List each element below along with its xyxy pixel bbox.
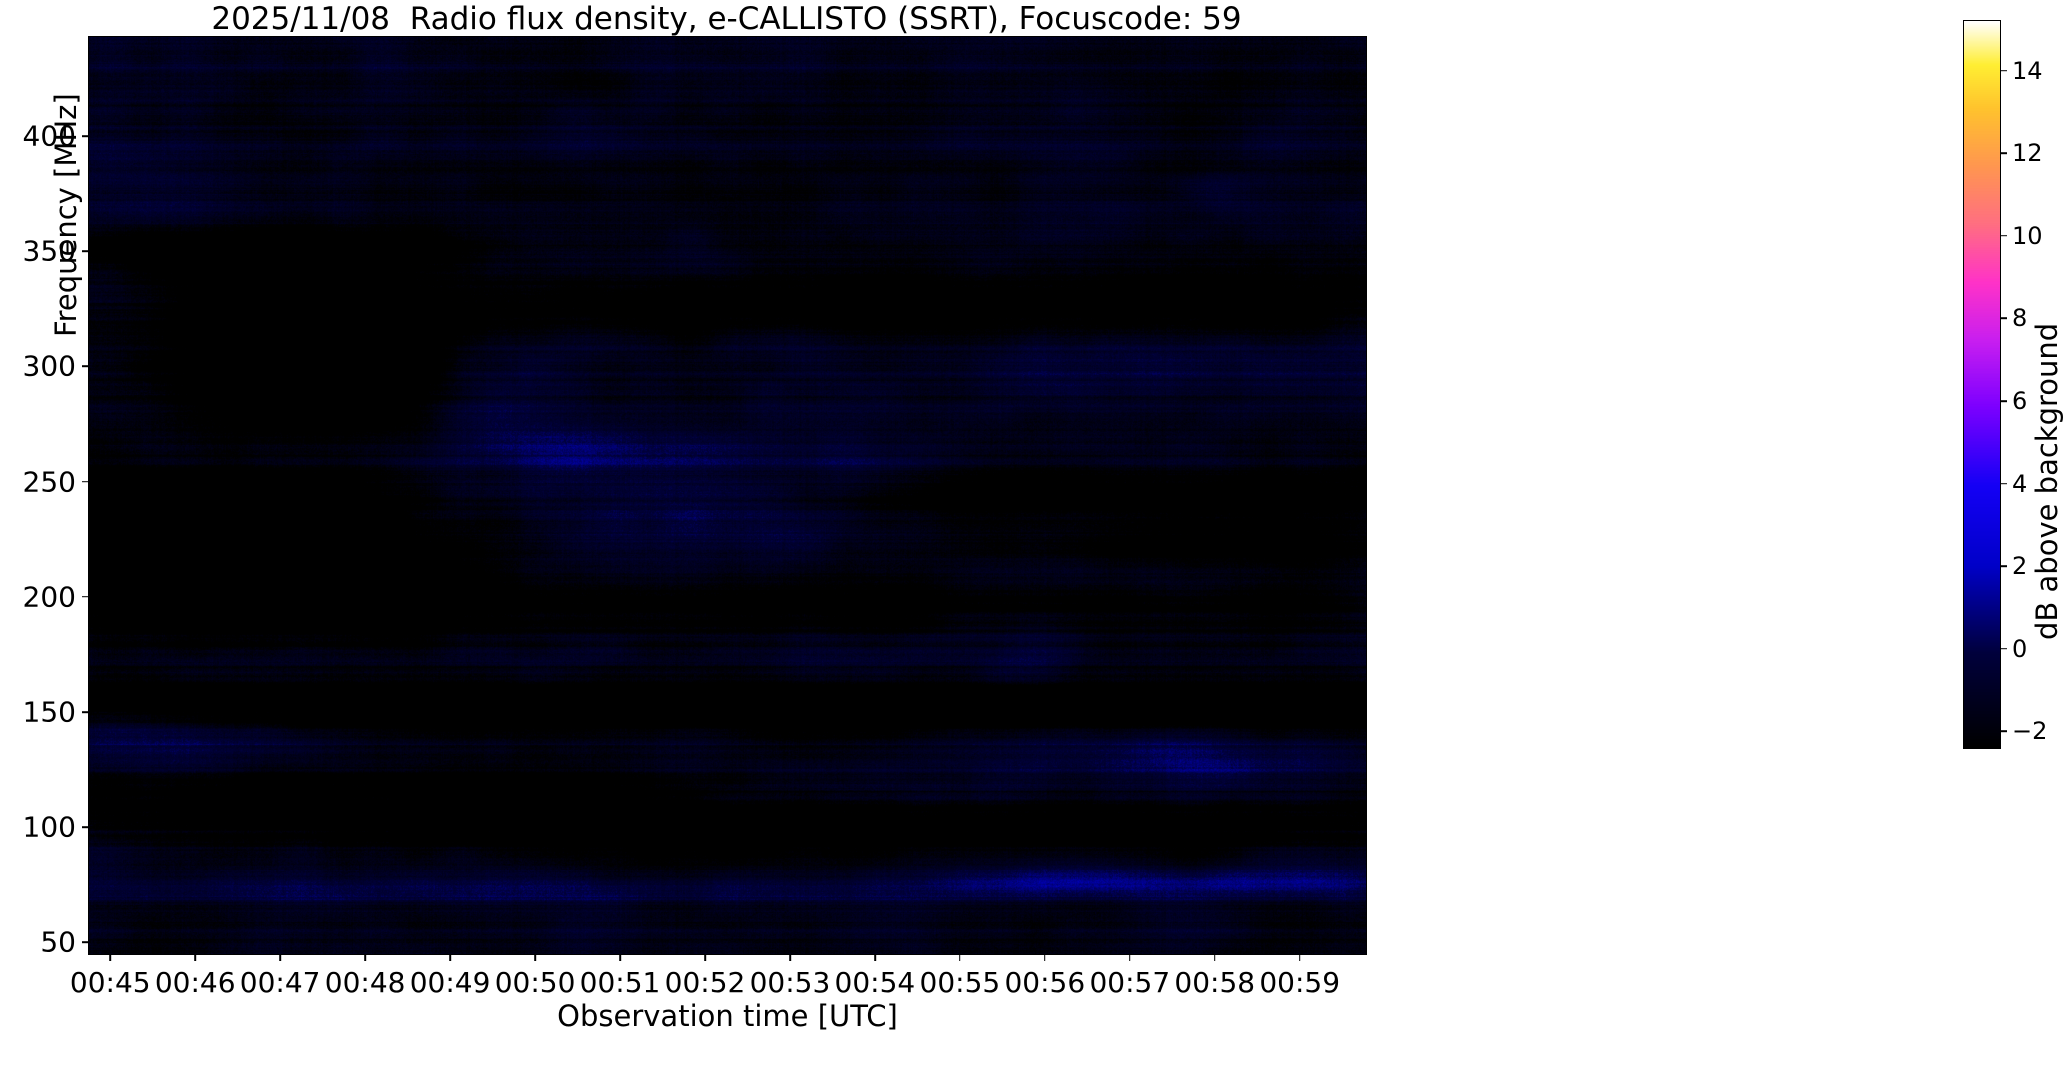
colorbar-tick-mark bbox=[2000, 483, 2007, 485]
x-tick-mark bbox=[449, 954, 451, 961]
x-tick-mark bbox=[1044, 954, 1046, 961]
y-tick-mark bbox=[82, 826, 89, 828]
colorbar-tick-mark bbox=[2000, 70, 2007, 72]
x-tick-mark bbox=[874, 954, 876, 961]
x-tick-mark bbox=[364, 954, 366, 961]
colorbar-tick-label: −2 bbox=[2000, 717, 2047, 745]
spectrogram-axes[interactable]: Frequency [MHz] 40035030025020015010050 … bbox=[88, 36, 1367, 955]
x-tick-mark bbox=[534, 954, 536, 961]
y-tick-label-400: 400 bbox=[23, 120, 89, 153]
y-tick-label-250: 250 bbox=[23, 465, 89, 498]
x-tick-mark bbox=[1299, 954, 1301, 961]
y-tick-mark bbox=[82, 481, 89, 483]
y-tick-label-150: 150 bbox=[23, 696, 89, 729]
y-tick-label-100: 100 bbox=[23, 811, 89, 844]
spectrogram-image[interactable] bbox=[89, 37, 1366, 954]
y-tick-label-350: 350 bbox=[23, 235, 89, 268]
x-tick-mark bbox=[194, 954, 196, 961]
colorbar-tick-mark bbox=[2000, 648, 2007, 650]
y-tick-mark bbox=[82, 711, 89, 713]
figure-canvas: 2025/11/08 Radio flux density, e-CALLIST… bbox=[0, 0, 2066, 1067]
y-tick-label-200: 200 bbox=[23, 580, 89, 613]
colorbar-tick-mark bbox=[2000, 731, 2007, 733]
colorbar-tick-mark bbox=[2000, 565, 2007, 567]
colorbar-label: dB above background bbox=[2030, 323, 2064, 640]
colorbar[interactable]: 14121086420−2 bbox=[1963, 20, 2001, 749]
x-tick-mark bbox=[1214, 954, 1216, 961]
colorbar-gradient bbox=[1964, 21, 2000, 748]
colorbar-tick-mark bbox=[2000, 318, 2007, 320]
x-tick-mark bbox=[109, 954, 111, 961]
page-title: 2025/11/08 Radio flux density, e-CALLIST… bbox=[88, 2, 1365, 36]
colorbar-tick-mark bbox=[2000, 400, 2007, 402]
y-tick-mark bbox=[82, 596, 89, 598]
x-axis-label: Observation time [UTC] bbox=[89, 999, 1366, 1033]
x-tick-mark bbox=[619, 954, 621, 961]
y-tick-label-300: 300 bbox=[23, 350, 89, 383]
x-tick-mark bbox=[789, 954, 791, 961]
y-tick-mark bbox=[82, 942, 89, 944]
x-tick-mark bbox=[279, 954, 281, 961]
x-tick-mark bbox=[1129, 954, 1131, 961]
y-tick-mark bbox=[82, 250, 89, 252]
x-tick-mark bbox=[704, 954, 706, 961]
colorbar-tick-mark bbox=[2000, 152, 2007, 154]
y-tick-mark bbox=[82, 135, 89, 137]
y-tick-mark bbox=[82, 366, 89, 368]
x-tick-mark bbox=[959, 954, 961, 961]
colorbar-tick-mark bbox=[2000, 235, 2007, 237]
